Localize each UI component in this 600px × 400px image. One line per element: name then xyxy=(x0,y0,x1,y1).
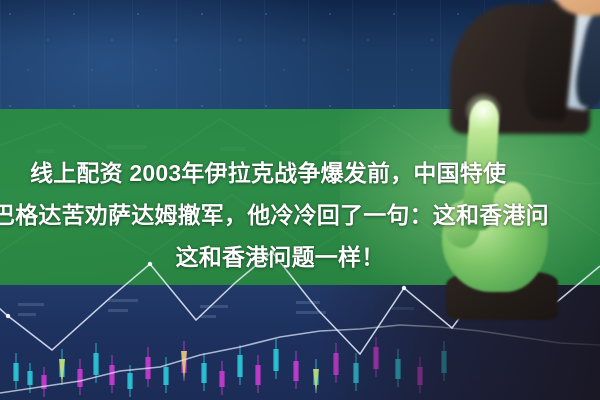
headline-text-block: 线上配资 2003年伊拉克战争爆发前，中国特使 巴格达苦劝萨达姆撤军，他冷冷回了… xyxy=(0,152,600,278)
candle-body xyxy=(145,357,150,379)
candle-body xyxy=(255,365,260,385)
candle-body xyxy=(293,361,298,381)
candle-body xyxy=(93,353,98,375)
candle-body xyxy=(13,363,18,381)
candle-body xyxy=(181,351,186,373)
candle-body xyxy=(237,355,242,377)
candle-body xyxy=(163,367,168,385)
headline-line-1: 线上配资 2003年伊拉克战争爆发前，中国特使 xyxy=(0,152,600,194)
candle-highlight xyxy=(59,359,65,385)
candle-body xyxy=(59,359,64,377)
candle-highlight xyxy=(181,351,187,381)
candle-body xyxy=(77,369,82,387)
candle-body xyxy=(41,375,46,389)
fingertip-glow xyxy=(464,92,502,130)
headline-line-3: 这和香港问题一样！ xyxy=(0,236,600,278)
headline-line-2: 巴格达苦劝萨达姆撤军，他冷冷回了一句：这和香港问 xyxy=(0,194,600,236)
candle-body xyxy=(127,373,132,389)
candle-body xyxy=(27,371,32,385)
candle-body xyxy=(201,363,206,383)
news-thumbnail-image: 线上配资 2003年伊拉克战争爆发前，中国特使 巴格达苦劝萨达姆撤军，他冷冷回了… xyxy=(0,0,600,400)
candle-body xyxy=(219,371,224,387)
candle-body xyxy=(109,365,114,385)
candle-body xyxy=(273,349,278,371)
